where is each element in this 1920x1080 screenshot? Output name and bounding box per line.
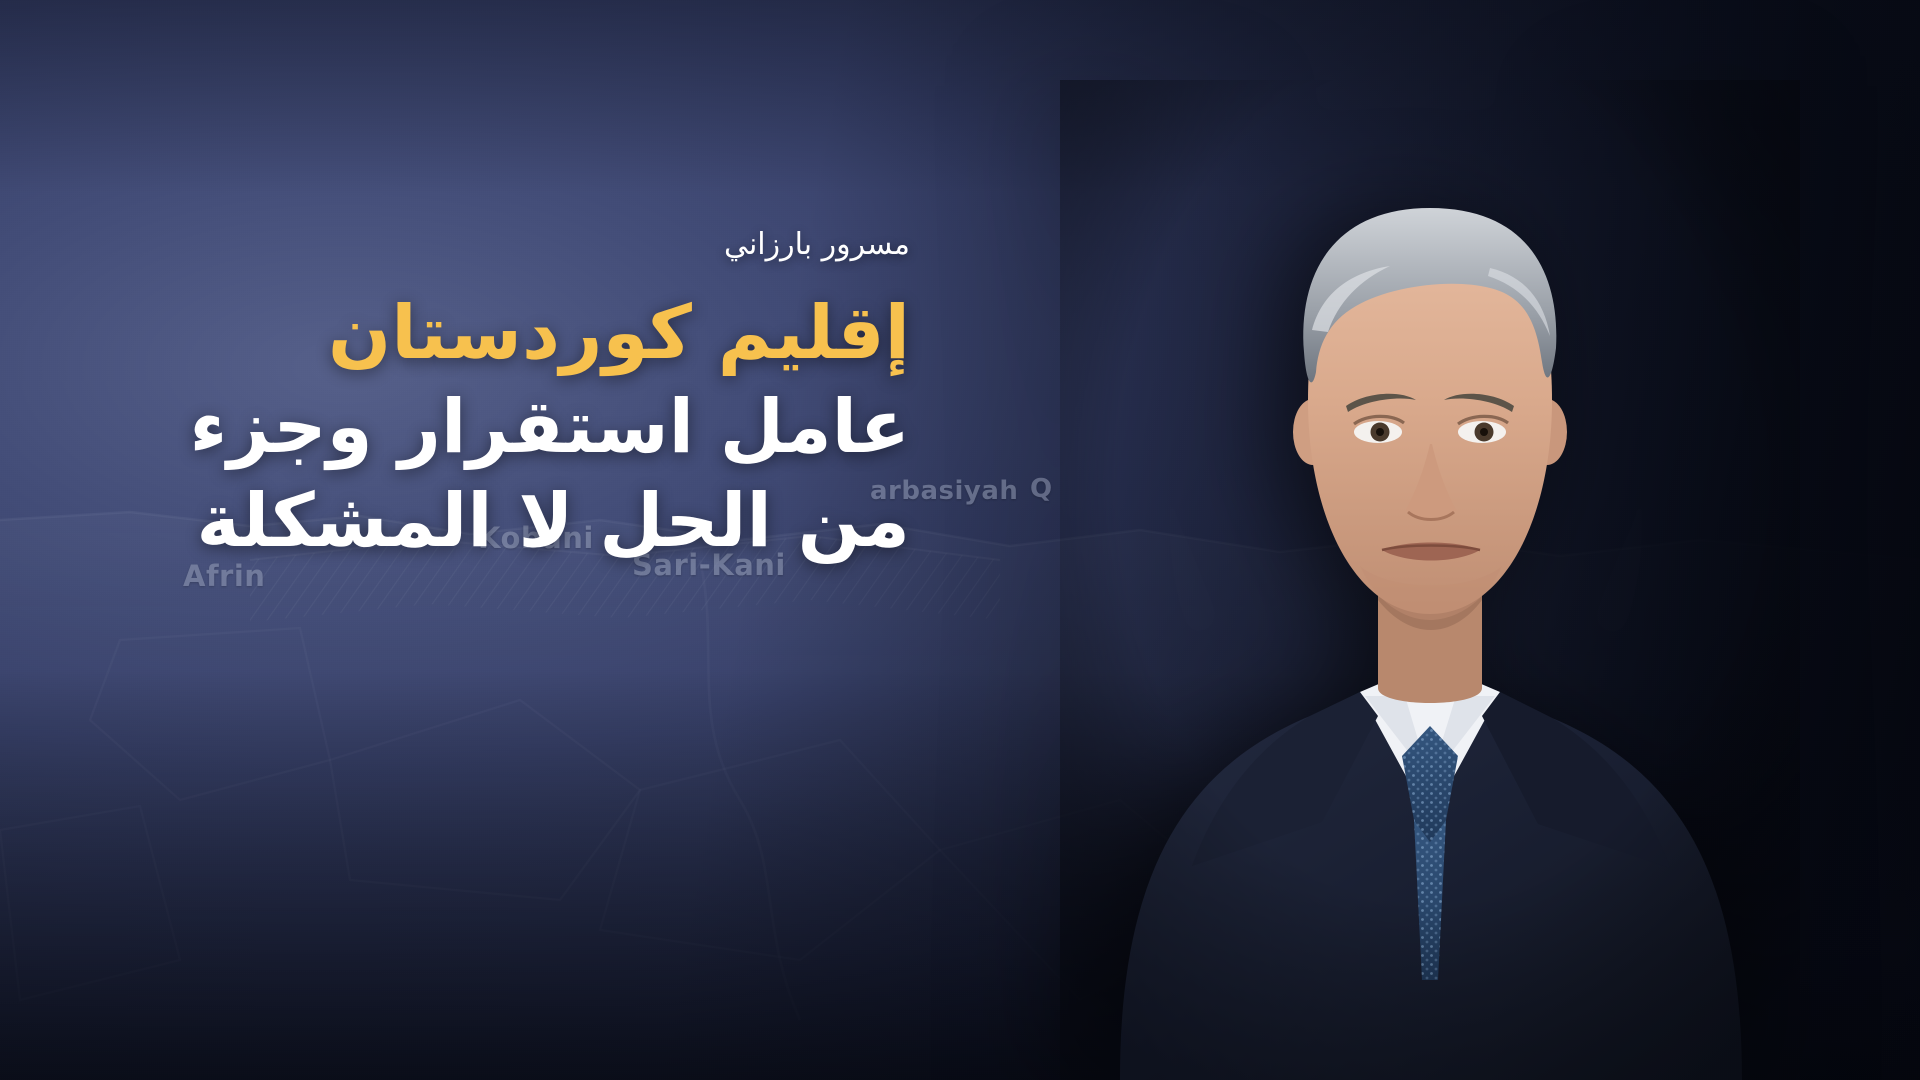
quote-card: arbasiyah Q Kobani Sari-Kani Afrin مسرور… (0, 0, 1920, 1080)
speaker-name: مسرور بارزاني (220, 228, 910, 261)
map-label-q: Q (1030, 474, 1053, 504)
portrait-masrour-barzani (1060, 80, 1800, 1080)
headline-line-3: من الحل لا المشكلة (220, 475, 910, 569)
quote-text-block: مسرور بارزاني إقليم كوردستان عامل استقرا… (220, 228, 910, 569)
headline-line-2: عامل استقرار وجزء (220, 381, 910, 475)
headline-line-1: إقليم كوردستان (220, 287, 910, 381)
headline: إقليم كوردستان عامل استقرار وجزء من الحل… (220, 287, 910, 569)
